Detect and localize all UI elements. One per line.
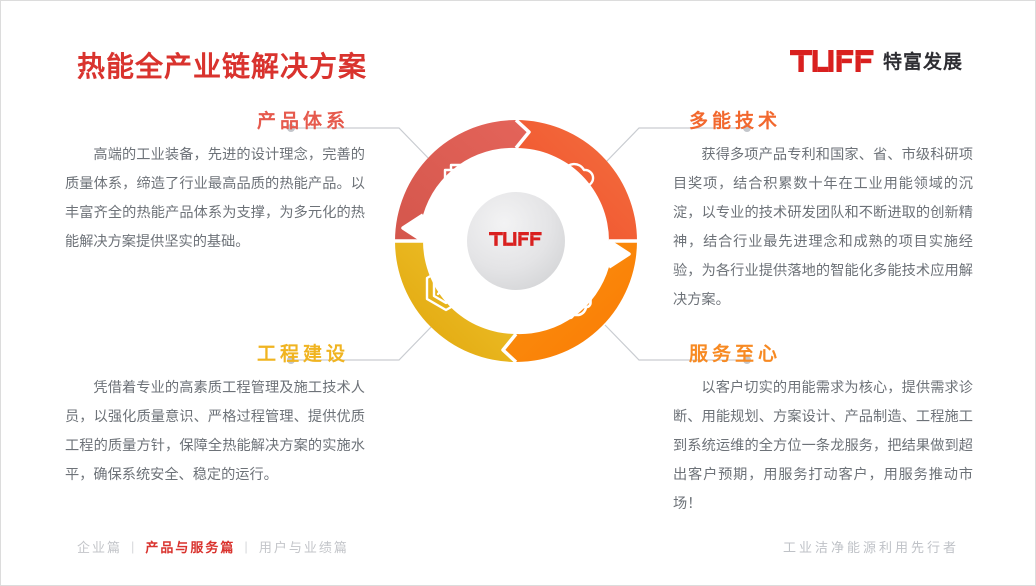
quadrant-engineering-body: 凭借着专业的高素质工程管理及施工技术人员，以强化质量意识、严格过程管理、提供优质… xyxy=(65,374,365,490)
donut-svg xyxy=(381,106,651,376)
quadrant-service: 服务至心 以客户切实的用能需求为核心，提供需求诊断、用能规划、方案设计、产品制造… xyxy=(673,344,973,519)
quadrant-engineering: 工程建设 凭借着专业的高素质工程管理及施工技术人员，以强化质量意识、严格过程管理… xyxy=(65,344,365,490)
footer-tagline: 工业洁净能源利用先行者 xyxy=(783,537,959,556)
logo-company-name: 特富发展 xyxy=(883,47,963,74)
quadrant-product-body: 高端的工业装备，先进的设计理念，完善的质量体系，缔造了行业最高品质的热能产品。以… xyxy=(65,141,365,257)
footer-nav: 企业篇 | 产品与服务篇 | 用户与业绩篇 xyxy=(77,537,349,556)
slide-header: 热能全产业链解决方案 xyxy=(1,1,1035,101)
quadrant-engineering-title: 工程建设 xyxy=(65,344,365,366)
quadrant-service-title: 服务至心 xyxy=(673,344,973,366)
folder-product-icon xyxy=(445,165,483,195)
brand-logo: 特富发展 xyxy=(790,47,963,74)
quadrant-technology: 多能技术 获得多项产品专利和国家、省、市级科研项目奖项，结合积累数十年在工业用能… xyxy=(673,111,973,315)
quadrant-product: 产品体系 高端的工业装备，先进的设计理念，完善的质量体系，缔造了行业最高品质的热… xyxy=(65,111,365,257)
footer-nav-item-enterprise[interactable]: 企业篇 xyxy=(77,537,122,556)
slide-page: 热能全产业链解决方案 xyxy=(0,0,1036,586)
footer-nav-separator: | xyxy=(244,539,249,554)
quadrant-service-body: 以客户切实的用能需求为核心，提供需求诊断、用能规划、方案设计、产品制造、工程施工… xyxy=(673,374,973,519)
donut-diagram xyxy=(381,106,651,376)
footer-nav-item-users-performance[interactable]: 用户与业绩篇 xyxy=(259,537,349,556)
headset-service-icon xyxy=(548,276,591,318)
footer-nav-separator: | xyxy=(131,539,136,554)
page-title: 热能全产业链解决方案 xyxy=(77,45,367,85)
quadrant-product-title: 产品体系 xyxy=(65,111,365,133)
quadrant-technology-body: 获得多项产品专利和国家、省、市级科研项目奖项，结合积累数十年在工业用能领域的沉淀… xyxy=(673,141,973,315)
slide-footer: 企业篇 | 产品与服务篇 | 用户与业绩篇 工业洁净能源利用先行者 xyxy=(1,525,1035,585)
footer-nav-item-product-service[interactable]: 产品与服务篇 xyxy=(145,537,235,556)
tuff-logo-icon xyxy=(790,50,874,72)
quadrant-technology-title: 多能技术 xyxy=(673,111,973,133)
